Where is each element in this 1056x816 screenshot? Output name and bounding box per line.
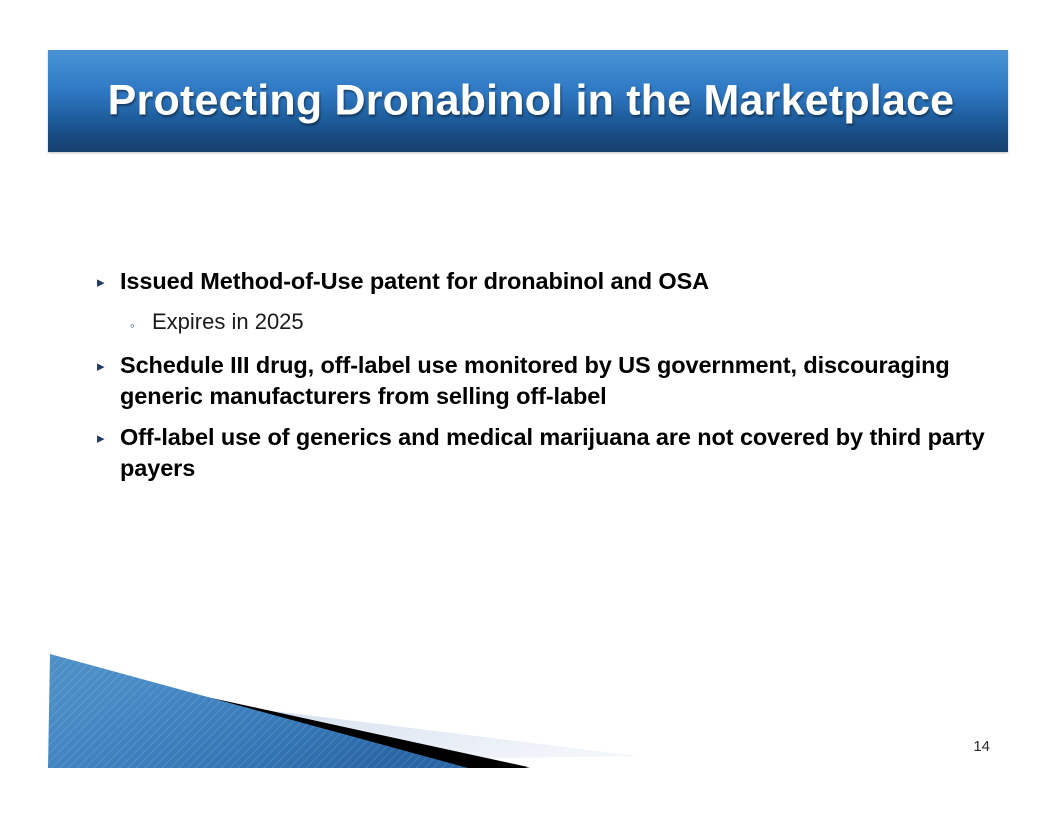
- list-item: ▸ Schedule III drug, off-label use monit…: [90, 350, 990, 411]
- bullet-list: ▸ Issued Method-of-Use patent for dronab…: [90, 266, 990, 494]
- slide-title-banner: Protecting Dronabinol in the Marketplace: [48, 50, 1008, 152]
- corner-triangles-graphic: [48, 652, 638, 770]
- slide-canvas: Protecting Dronabinol in the Marketplace…: [0, 0, 1056, 816]
- list-item: ◦ Expires in 2025: [90, 308, 990, 337]
- list-item-label: Schedule III drug, off-label use monitor…: [120, 350, 990, 411]
- triangle-bullet-icon: ▸: [97, 275, 105, 290]
- list-item-label: Off-label use of generics and medical ma…: [120, 422, 990, 483]
- list-item: ▸ Off-label use of generics and medical …: [90, 422, 990, 483]
- triangle-bullet-icon: ▸: [97, 431, 105, 446]
- blue-triangle-texture: [48, 654, 468, 768]
- page-number: 14: [973, 738, 990, 755]
- list-item: ▸ Issued Method-of-Use patent for dronab…: [90, 266, 990, 297]
- list-item-label: Issued Method-of-Use patent for dronabin…: [120, 266, 990, 297]
- triangle-bullet-icon: ▸: [97, 359, 105, 374]
- decoration-svg: [48, 652, 638, 770]
- circle-bullet-icon: ◦: [130, 319, 135, 332]
- page-title: Protecting Dronabinol in the Marketplace: [62, 78, 1000, 123]
- list-item-label: Expires in 2025: [152, 308, 990, 337]
